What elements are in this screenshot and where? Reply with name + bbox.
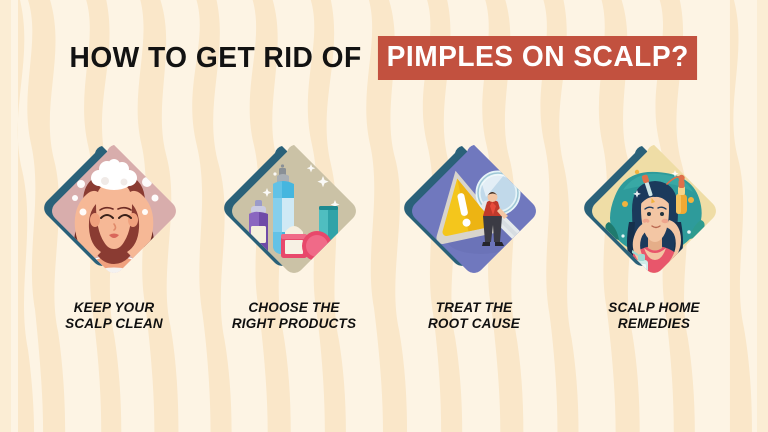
hair-product-bottles-icon: [219, 136, 369, 286]
page-title: HOW TO GET RID OFPIMPLES ON SCALP?: [0, 36, 768, 80]
steps-row: KEEP YOUR SCALP CLEAN: [28, 136, 740, 348]
title-plain-text: HOW TO GET RID OF: [70, 42, 362, 75]
step-label: CHOOSE THE RIGHT PRODUCTS: [232, 300, 356, 333]
step-label: TREAT THE ROOT CAUSE: [428, 300, 520, 333]
step-card-treat-root-cause[interactable]: TREAT THE ROOT CAUSE: [388, 136, 560, 333]
warning-magnifier-icon: [399, 136, 549, 286]
title-highlight-text: PIMPLES ON SCALP?: [378, 36, 698, 80]
step-label: SCALP HOME REMEDIES: [608, 300, 700, 333]
infographic-canvas: HOW TO GET RID OFPIMPLES ON SCALP?: [0, 0, 768, 432]
step-label: KEEP YOUR SCALP CLEAN: [65, 300, 163, 333]
woman-washing-hair-icon: [39, 136, 189, 286]
step-card-choose-right-products[interactable]: CHOOSE THE RIGHT PRODUCTS: [208, 136, 380, 333]
woman-serum-dropper-icon: [579, 136, 729, 286]
step-card-keep-scalp-clean[interactable]: KEEP YOUR SCALP CLEAN: [28, 136, 200, 333]
step-card-scalp-home-remedies[interactable]: SCALP HOME REMEDIES: [568, 136, 740, 333]
